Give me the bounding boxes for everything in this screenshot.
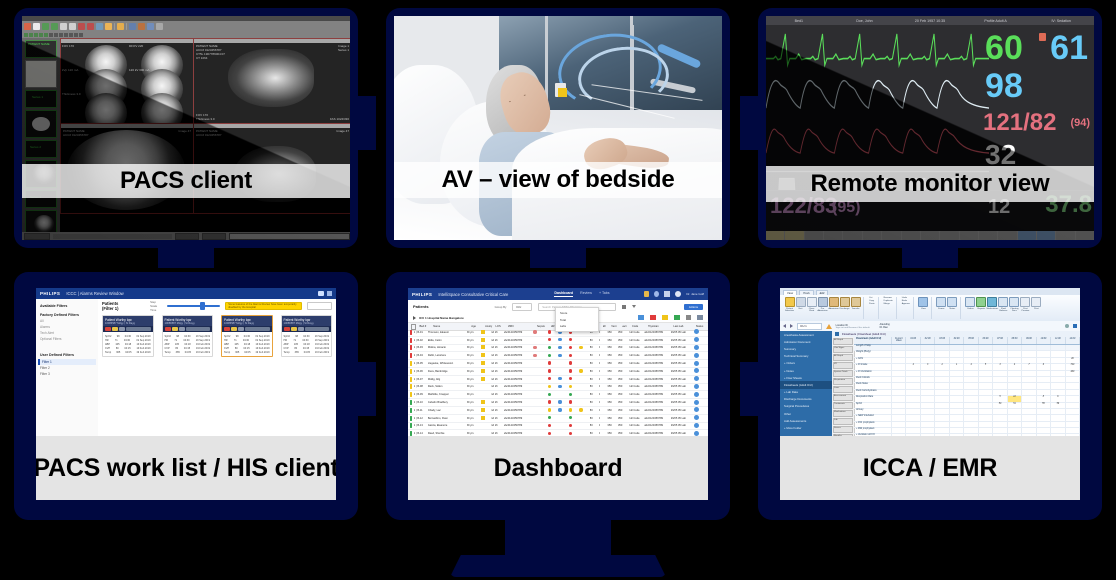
status-badge[interactable] bbox=[694, 368, 706, 374]
notification-bell-icon[interactable] bbox=[644, 291, 649, 297]
flowsheet-cell[interactable] bbox=[1008, 345, 1022, 350]
flowsheet-cell[interactable] bbox=[993, 409, 1007, 414]
ribbon-button-reports[interactable]: Reports bbox=[977, 297, 986, 313]
flowsheet-cell[interactable]: 50 bbox=[993, 403, 1007, 408]
flowsheet-cell[interactable] bbox=[921, 409, 935, 414]
mini-tool-10[interactable] bbox=[69, 33, 73, 37]
ribbon-button-print-preview[interactable]: Print Preview bbox=[1021, 297, 1030, 313]
flowsheet-cell[interactable] bbox=[979, 351, 993, 356]
table-row[interactable]: 1 | B-03Molina, Horacio59 yrs1d 2habc012… bbox=[408, 345, 708, 353]
flowsheet-cell[interactable] bbox=[964, 428, 978, 433]
monitor-icca-emr[interactable]: View Tools Edit Patient Selection Exit bbox=[758, 272, 1102, 520]
col-bed[interactable]: Bed # bbox=[419, 325, 433, 328]
alarm-grey-icon[interactable] bbox=[298, 327, 304, 331]
flowsheet-cell[interactable] bbox=[935, 377, 949, 382]
flowsheet-cell[interactable] bbox=[1022, 390, 1036, 395]
flowsheet-cell[interactable] bbox=[906, 409, 920, 414]
chart-icon-1[interactable] bbox=[638, 315, 644, 320]
flowsheet-cell[interactable] bbox=[979, 383, 993, 388]
his-toolbar[interactable]: Patients (Filter 1) Step Scale Time Some… bbox=[98, 299, 336, 313]
col-lastlab[interactable]: Last Lab bbox=[673, 325, 695, 328]
flowsheet-cell[interactable] bbox=[1022, 377, 1036, 382]
flowsheet-cell[interactable] bbox=[1022, 415, 1036, 420]
flowsheet-cell[interactable] bbox=[921, 422, 935, 427]
alarm-info-icon[interactable] bbox=[305, 327, 330, 331]
viewport-scrollbar-3[interactable] bbox=[61, 124, 193, 128]
ribbon-group-edit[interactable]: Cut Copy Paste bbox=[866, 297, 879, 319]
flowsheet-cell[interactable] bbox=[979, 358, 993, 363]
flowsheet-cell[interactable]: 3 bbox=[921, 364, 935, 369]
status-badge[interactable] bbox=[694, 400, 706, 406]
screen-remote-monitor[interactable]: Bed1 Doe, John 20 Feb 1957 10:35 Profile… bbox=[766, 16, 1094, 240]
palette-button[interactable]: Scores bbox=[833, 426, 853, 433]
table-row[interactable]: 1 | B-08Reck, Sollen59 yrs1d 2habc012345… bbox=[408, 384, 708, 392]
time-column-header[interactable]: 10:00 bbox=[1037, 337, 1051, 344]
flowsheet-cell[interactable]: 56 bbox=[1051, 403, 1065, 408]
ribbon-button-orders[interactable]: Orders bbox=[966, 297, 975, 313]
status-badge[interactable] bbox=[694, 407, 706, 413]
monitor-remote-view[interactable]: Bed1 Doe, John 20 Feb 1957 10:35 Profile… bbox=[758, 8, 1102, 248]
current-value-cell[interactable] bbox=[892, 428, 906, 433]
flowsheet-cell[interactable]: 12 bbox=[1008, 396, 1022, 401]
flowsheet-cell[interactable] bbox=[1008, 415, 1022, 420]
flowsheet-cell[interactable] bbox=[921, 390, 935, 395]
flowsheet-header-row[interactable]: Flowsheets (Adult ICU)Current Value01:00… bbox=[854, 337, 1080, 345]
softkey-17[interactable] bbox=[1056, 231, 1074, 240]
flowsheet-cell[interactable] bbox=[950, 428, 964, 433]
pacs-viewport-area[interactable]: FOV 170 kVp 120 mA Thickness 3.0 DFOV 22… bbox=[60, 38, 350, 232]
flowsheet-cell[interactable]: 51 bbox=[1008, 403, 1022, 408]
flowsheet-cell[interactable] bbox=[964, 377, 978, 382]
flowsheet-cell[interactable] bbox=[906, 396, 920, 401]
flowsheet-cell[interactable] bbox=[950, 422, 964, 427]
series-label-thumb-2[interactable]: Series 1 bbox=[25, 90, 57, 108]
nav-item[interactable]: Technical Summary bbox=[780, 353, 832, 360]
flowsheet-cell[interactable] bbox=[921, 403, 935, 408]
flowsheet-cell[interactable] bbox=[1051, 351, 1065, 356]
tool-sync-icon[interactable] bbox=[129, 23, 136, 30]
mini-tool-5[interactable] bbox=[44, 33, 48, 37]
flowsheet-cell[interactable] bbox=[993, 415, 1007, 420]
dashboard-title-actions[interactable]: Dr. Jane Goff bbox=[644, 291, 704, 297]
flowsheet-cell[interactable] bbox=[1051, 409, 1065, 414]
flowsheet-cell[interactable] bbox=[1022, 396, 1036, 401]
alarm-grey-icon[interactable] bbox=[179, 327, 185, 331]
col-name[interactable]: Name bbox=[433, 325, 471, 328]
flowsheet-cell[interactable] bbox=[964, 396, 978, 401]
col-acuity[interactable]: Acuity bbox=[485, 325, 495, 328]
flowsheet-cell[interactable] bbox=[950, 345, 964, 350]
alarm-yellow-icon[interactable] bbox=[291, 327, 297, 331]
flowsheet-cell[interactable] bbox=[921, 351, 935, 356]
ribbon-group-edit-2[interactable]: Rename Duplicate Merge bbox=[881, 297, 897, 319]
flowsheet-cell[interactable] bbox=[935, 383, 949, 388]
tool-layout-icon[interactable] bbox=[105, 23, 112, 30]
series-thumb-scout[interactable] bbox=[25, 110, 57, 138]
flowsheet-cell[interactable] bbox=[1066, 415, 1080, 420]
flowsheet-cell[interactable] bbox=[993, 345, 1007, 350]
ribbon-label[interactable]: Undo bbox=[902, 297, 907, 299]
flowsheet-cell[interactable]: 6 bbox=[1037, 364, 1051, 369]
flowsheet-cell[interactable] bbox=[1051, 364, 1065, 369]
flowsheet-cell[interactable] bbox=[1051, 358, 1065, 363]
flowsheet-cell[interactable] bbox=[993, 383, 1007, 388]
flowsheet-cell[interactable] bbox=[921, 428, 935, 433]
tool-angle-icon[interactable] bbox=[51, 23, 58, 30]
nav-item[interactable]: Admission Document bbox=[780, 338, 832, 345]
slider-handle[interactable] bbox=[200, 302, 205, 310]
col-age[interactable]: Age bbox=[471, 325, 485, 328]
tool-text-icon[interactable] bbox=[60, 23, 67, 30]
ribbon-group-load[interactable]: Patient Selection Exit Close Chart bbox=[782, 297, 864, 319]
ribbon-group-navigation[interactable]: Forms Notes bbox=[934, 297, 961, 319]
flowsheet-cell[interactable] bbox=[1066, 396, 1080, 401]
status-prior-study-button[interactable] bbox=[175, 233, 199, 240]
flowsheet-cell[interactable]: 8 bbox=[1037, 396, 1051, 401]
palette-button[interactable]: System Totals bbox=[833, 370, 853, 377]
flowsheet-cell[interactable]: 400 bbox=[1066, 371, 1080, 376]
flowsheet-cell[interactable] bbox=[1022, 351, 1036, 356]
table-row[interactable]: 1 | B-05Llegeeke, Whitewood.59 yrs1d 2ha… bbox=[408, 360, 708, 368]
flowsheet-cell[interactable] bbox=[1022, 371, 1036, 376]
factory-filter-all[interactable]: All bbox=[40, 319, 94, 323]
ribbon-label[interactable]: Approve bbox=[902, 303, 910, 305]
menu-item-labs[interactable]: Labs bbox=[556, 323, 598, 329]
softkey-review[interactable] bbox=[979, 231, 997, 240]
status-badge[interactable] bbox=[694, 361, 706, 367]
current-value-cell[interactable] bbox=[892, 358, 906, 363]
nav-item[interactable]: Summary bbox=[780, 345, 832, 352]
flowsheet-cell[interactable] bbox=[1066, 403, 1080, 408]
icca-ribbon-tabs[interactable]: View Tools Edit bbox=[780, 288, 1080, 295]
flowsheet-cell[interactable] bbox=[1022, 383, 1036, 388]
info-icon[interactable] bbox=[1073, 324, 1077, 328]
current-value-cell[interactable] bbox=[892, 409, 906, 414]
nav-item[interactable]: + Orders bbox=[780, 360, 832, 367]
flowsheet-cell[interactable] bbox=[950, 415, 964, 420]
alarm-red-icon[interactable] bbox=[165, 327, 171, 331]
alarm-indicator-icon[interactable] bbox=[1039, 33, 1046, 41]
flowsheet-cell[interactable] bbox=[964, 383, 978, 388]
flowsheet-cell[interactable] bbox=[993, 390, 1007, 395]
monitor-pacs-client[interactable]: PATIENT NAME Series 1 Series 2 Series 3 bbox=[14, 8, 358, 248]
tool-ruler-icon[interactable] bbox=[42, 23, 49, 30]
tool-magnify-icon[interactable] bbox=[96, 23, 103, 30]
mini-tool-11[interactable] bbox=[74, 33, 78, 37]
mini-tool-1[interactable] bbox=[24, 33, 28, 37]
flowsheet-cell[interactable] bbox=[906, 390, 920, 395]
flowsheet-cell[interactable] bbox=[1051, 428, 1065, 433]
volume-icon[interactable] bbox=[318, 291, 324, 296]
tool-print-icon[interactable] bbox=[147, 23, 154, 30]
alarm-info-icon[interactable] bbox=[245, 327, 270, 331]
current-value-cell[interactable] bbox=[892, 371, 906, 376]
expand-icon[interactable] bbox=[835, 332, 839, 336]
nav-item[interactable]: + Lab Data bbox=[780, 389, 832, 396]
settings-icon[interactable] bbox=[1065, 324, 1069, 328]
monitor-dashboard[interactable]: PHILIPS IntelliSpace Consultative Critic… bbox=[386, 272, 730, 520]
nav-item[interactable]: Surgical Procedures bbox=[780, 403, 832, 410]
softkey-main-setup-2[interactable] bbox=[1018, 231, 1036, 240]
flowsheet-cell[interactable] bbox=[921, 396, 935, 401]
time-column-header[interactable]: 02:00 bbox=[921, 337, 935, 344]
chart-icon-2[interactable] bbox=[650, 315, 656, 320]
flowsheet-cell[interactable] bbox=[906, 383, 920, 388]
current-value-cell[interactable] bbox=[892, 415, 906, 420]
palette-button[interactable]: Assessment bbox=[833, 394, 853, 401]
status-relevant-button[interactable] bbox=[202, 233, 226, 240]
patient-search-input[interactable] bbox=[307, 302, 332, 310]
flowsheet-cell[interactable] bbox=[950, 409, 964, 414]
palette-button[interactable]: All Graph bbox=[833, 354, 853, 361]
flowsheet-cell[interactable] bbox=[1008, 422, 1022, 427]
palette-button[interactable]: Vital Signs bbox=[833, 346, 853, 353]
flowsheet-cell[interactable] bbox=[1051, 415, 1065, 420]
patient-card[interactable]: Patient Worthy Iqw 10086587 Mdgy | St Ra… bbox=[102, 315, 154, 357]
flowsheet-cell[interactable] bbox=[921, 383, 935, 388]
palette-button[interactable]: Lab bbox=[833, 418, 853, 425]
flowsheet-cell[interactable] bbox=[1066, 428, 1080, 433]
flowsheet-cell[interactable] bbox=[1008, 390, 1022, 395]
ribbon-button-notes[interactable]: Notes bbox=[948, 297, 957, 313]
location-field[interactable]: ICU 1 bbox=[797, 323, 822, 330]
user-filter-3[interactable]: Filter 3 bbox=[38, 371, 96, 377]
flowsheet-cell[interactable] bbox=[921, 371, 935, 376]
chart-icon-4[interactable] bbox=[674, 315, 680, 320]
monitor-av-bedside[interactable]: AV – view of bedside bbox=[386, 8, 730, 248]
flowsheet-cell[interactable] bbox=[1008, 371, 1022, 376]
help-icon[interactable] bbox=[654, 291, 659, 297]
col-physician[interactable]: Physician bbox=[648, 325, 674, 328]
mini-tool-4[interactable] bbox=[39, 33, 43, 37]
flowsheet-cell[interactable] bbox=[950, 390, 964, 395]
chevron-down-icon[interactable] bbox=[632, 305, 636, 308]
flowsheet-cell[interactable] bbox=[979, 403, 993, 408]
flowsheet-cell[interactable] bbox=[950, 396, 964, 401]
ribbon-group-edit-3[interactable]: Undo Redo Approve bbox=[899, 297, 914, 319]
alarm-red-icon[interactable] bbox=[105, 327, 111, 331]
series-report-thumb[interactable] bbox=[25, 60, 57, 88]
flowsheet-cell[interactable] bbox=[979, 371, 993, 376]
flowsheet-cell[interactable] bbox=[935, 428, 949, 433]
tool-zoom-icon[interactable] bbox=[78, 23, 85, 30]
flowsheet-cell[interactable] bbox=[906, 403, 920, 408]
nav-item[interactable]: + More Folder bbox=[780, 424, 832, 431]
status-badge[interactable] bbox=[694, 353, 706, 359]
table-row[interactable]: 1 | B-06Fiera, Bainbridge59 yrs1d 2habc0… bbox=[408, 368, 708, 376]
flowsheet-cell[interactable] bbox=[950, 377, 964, 382]
alarm-red-icon[interactable] bbox=[224, 327, 230, 331]
flowsheet-cell[interactable] bbox=[1022, 403, 1036, 408]
series-label-thumb-3[interactable]: Series 2 bbox=[25, 140, 57, 158]
flowsheet-cell[interactable] bbox=[950, 371, 964, 376]
flowsheet-cell[interactable] bbox=[1051, 390, 1065, 395]
status-badge[interactable] bbox=[694, 376, 706, 382]
table-row[interactable]: 1 | B-12Bernardino, Ruat59 yrs1d 2habc01… bbox=[408, 415, 708, 423]
his-title-actions[interactable] bbox=[318, 291, 332, 296]
flowsheet-cell[interactable] bbox=[1037, 351, 1051, 356]
viewport-scrollbar-2[interactable] bbox=[194, 39, 350, 43]
flowsheet-cell[interactable] bbox=[950, 403, 964, 408]
mini-tool-6[interactable] bbox=[49, 33, 53, 37]
tool-arrow-icon[interactable] bbox=[24, 23, 31, 30]
flowsheet-cell[interactable] bbox=[1037, 345, 1051, 350]
flowsheet-cell[interactable]: 5 bbox=[993, 396, 1007, 401]
flowsheet-cell[interactable] bbox=[979, 409, 993, 414]
flowsheet-cell[interactable] bbox=[906, 428, 920, 433]
flowsheet-cell[interactable] bbox=[993, 377, 1007, 382]
table-row[interactable]: 1 | B-13Garcia, Eleanore59 yrs1d 2habc01… bbox=[408, 423, 708, 431]
flowsheet-cell[interactable] bbox=[1066, 351, 1080, 356]
mini-tool-2[interactable] bbox=[29, 33, 33, 37]
softkey-patient[interactable] bbox=[843, 231, 861, 240]
table-row[interactable]: 1 | B-11Chady, Lac59 yrs1d 2habc01234567… bbox=[408, 407, 708, 415]
status-badge[interactable] bbox=[694, 423, 706, 429]
patient-card[interactable]: Patient Worthy Iqw 10086587 Mdgy | St Ra… bbox=[162, 315, 214, 357]
status-badge[interactable] bbox=[694, 337, 706, 343]
time-column-header[interactable]: 05:00 bbox=[964, 337, 978, 344]
mini-tool-12[interactable] bbox=[79, 33, 83, 37]
alarm-info-icon[interactable] bbox=[126, 327, 151, 331]
viewport-scrollbar-1[interactable] bbox=[61, 39, 193, 43]
pacs-toolbar[interactable] bbox=[22, 21, 350, 32]
flowsheet-cell[interactable] bbox=[964, 358, 978, 363]
ribbon-button-fluid-balance[interactable]: Fluid Balance bbox=[999, 297, 1008, 313]
screen-icca-emr[interactable]: View Tools Edit Patient Selection Exit bbox=[780, 288, 1080, 500]
flowsheet-cell[interactable] bbox=[935, 403, 949, 408]
time-scale-slider[interactable] bbox=[167, 305, 221, 307]
table-row[interactable]: 1 | B-09Mathilde, Knapper59 yrs1d 2habc0… bbox=[408, 391, 708, 399]
flowsheet-cell[interactable] bbox=[979, 396, 993, 401]
softkey-screens[interactable] bbox=[863, 231, 881, 240]
col-los[interactable]: LOS bbox=[495, 325, 507, 328]
screen-pacs-worklist[interactable]: PHILIPS ICCC | Alarms Review Window Avai… bbox=[36, 288, 336, 500]
status-badge[interactable] bbox=[694, 329, 706, 335]
flowsheet-cell[interactable] bbox=[1008, 351, 1022, 356]
flowsheet-cell[interactable] bbox=[993, 422, 1007, 427]
nav-item[interactable]: Discharge Documents bbox=[780, 396, 832, 403]
table-row[interactable]: 1 | B-02Elida, Cetim59 yrs1d 2habc012345… bbox=[408, 337, 708, 345]
close-icon[interactable] bbox=[327, 291, 332, 296]
tool-roi-icon[interactable] bbox=[69, 23, 76, 30]
flowsheet-cell[interactable] bbox=[1008, 358, 1022, 363]
ribbon-button-discharge[interactable]: Discharge bbox=[840, 297, 849, 313]
flowsheet-cell[interactable] bbox=[1008, 428, 1022, 433]
flowsheet-cell[interactable]: 1 bbox=[950, 364, 964, 369]
group-toolbar[interactable] bbox=[638, 315, 703, 320]
flowsheet-cell[interactable] bbox=[906, 358, 920, 363]
nav-item[interactable]: Other bbox=[780, 410, 832, 417]
mini-tool-9[interactable] bbox=[64, 33, 68, 37]
flowsheet-cell[interactable] bbox=[906, 415, 920, 420]
flowsheet-cell[interactable] bbox=[921, 358, 935, 363]
dashboard-dropdown-menu[interactable]: Score Total Labs bbox=[555, 307, 599, 332]
softkey-measure[interactable] bbox=[882, 231, 900, 240]
flowsheet-cell[interactable] bbox=[950, 351, 964, 356]
softkey-alarm-silence[interactable] bbox=[766, 231, 784, 240]
nav-item[interactable]: + Flow Sheets bbox=[780, 374, 832, 381]
flowsheet-cell[interactable] bbox=[935, 396, 949, 401]
tool-export-icon[interactable] bbox=[138, 23, 145, 30]
sort-icon[interactable] bbox=[686, 315, 691, 320]
flowsheet-cell[interactable] bbox=[1037, 409, 1051, 414]
time-column-header[interactable]: 03:00 bbox=[935, 337, 949, 344]
status-badge[interactable] bbox=[694, 384, 706, 390]
mini-tool-7[interactable] bbox=[54, 33, 58, 37]
current-value-cell[interactable] bbox=[892, 396, 906, 401]
collapse-icon[interactable] bbox=[413, 316, 416, 320]
flowsheet-cell[interactable] bbox=[1022, 422, 1036, 427]
flowsheet-cell[interactable] bbox=[906, 422, 920, 427]
ribbon-button-close-chart[interactable]: Close Chart bbox=[807, 297, 816, 313]
forward-icon[interactable] bbox=[790, 324, 793, 328]
flowsheet-cell[interactable] bbox=[1037, 383, 1051, 388]
col-sepsis[interactable]: Sepsis bbox=[537, 325, 551, 328]
col-code[interactable]: Code bbox=[632, 325, 648, 328]
flowsheet-cell[interactable] bbox=[1051, 371, 1065, 376]
flowsheet-cell[interactable] bbox=[935, 390, 949, 395]
nav-item[interactable]: Anesthesia Assessment bbox=[780, 331, 832, 338]
flowsheet-cell[interactable] bbox=[906, 377, 920, 382]
screen-dashboard[interactable]: PHILIPS IntelliSpace Consultative Critic… bbox=[408, 288, 708, 500]
status-badge[interactable] bbox=[694, 345, 706, 351]
softkey-standby[interactable] bbox=[940, 231, 958, 240]
time-column-header[interactable]: 01:00 bbox=[906, 337, 920, 344]
time-column-header[interactable]: 12:00 bbox=[1066, 337, 1080, 344]
col-status[interactable]: Status bbox=[696, 325, 708, 328]
alarm-info-icon[interactable] bbox=[186, 327, 211, 331]
patient-card-list[interactable]: Patient Worthy Iqw 10086587 Mdgy | St Ra… bbox=[102, 315, 332, 357]
export-icon[interactable] bbox=[697, 315, 703, 320]
current-value-cell[interactable] bbox=[892, 383, 906, 388]
time-column-header[interactable]: 06:00 bbox=[979, 337, 993, 344]
mini-tool-3[interactable] bbox=[34, 33, 38, 37]
flowsheet-cell[interactable] bbox=[935, 409, 949, 414]
viewport-scout-lateral[interactable]: PATIENT NAME ACC# 0123456787 CT5L 190778… bbox=[193, 38, 350, 124]
ribbon-label[interactable]: Merge bbox=[884, 303, 890, 305]
flowsheet-cell[interactable] bbox=[950, 383, 964, 388]
flowsheet-cell[interactable] bbox=[935, 371, 949, 376]
time-column-header[interactable]: 11:00 bbox=[1051, 337, 1065, 344]
nav-item[interactable]: Add Assessments bbox=[780, 417, 832, 424]
table-row[interactable]: 1 | B-04Rebb, Letortera59 yrs1d 2habc012… bbox=[408, 352, 708, 360]
flowsheet-cell[interactable] bbox=[1066, 377, 1080, 382]
status-badge[interactable] bbox=[694, 392, 706, 398]
tab-add[interactable]: + Tabs bbox=[599, 291, 610, 297]
alarm-yellow-icon[interactable] bbox=[112, 327, 118, 331]
current-value-cell[interactable] bbox=[892, 390, 906, 395]
ribbon-button-pre-admission[interactable]: Pre Admission bbox=[818, 297, 827, 313]
flowsheet-cell[interactable] bbox=[1037, 371, 1051, 376]
flowsheet-cell[interactable] bbox=[993, 358, 1007, 363]
status-ready-button[interactable] bbox=[24, 233, 50, 240]
group-by-select[interactable]: ICU bbox=[512, 303, 532, 311]
ribbon-button-print[interactable]: Print bbox=[1032, 297, 1041, 313]
flowsheet-cell[interactable] bbox=[921, 415, 935, 420]
softkey-main-setup[interactable] bbox=[824, 231, 842, 240]
flowsheet-cell[interactable] bbox=[979, 428, 993, 433]
factory-filter-alarms[interactable]: Alarms bbox=[40, 325, 94, 329]
palette-button[interactable]: Medications bbox=[833, 410, 853, 417]
flowsheet-cell[interactable] bbox=[979, 390, 993, 395]
ribbon-button-forms[interactable]: Forms bbox=[937, 297, 946, 313]
ribbon-button-exit[interactable]: Exit bbox=[796, 297, 805, 313]
series-label-thumb-1[interactable]: PATIENT NAME bbox=[25, 40, 57, 58]
flowsheet-cell[interactable] bbox=[1066, 409, 1080, 414]
flowsheet-cell[interactable] bbox=[935, 345, 949, 350]
ribbon-button-view[interactable]: View bbox=[919, 297, 928, 313]
monitor-header-bar[interactable]: Bed1 Doe, John 20 Feb 1957 10:35 Profile… bbox=[766, 16, 1094, 25]
